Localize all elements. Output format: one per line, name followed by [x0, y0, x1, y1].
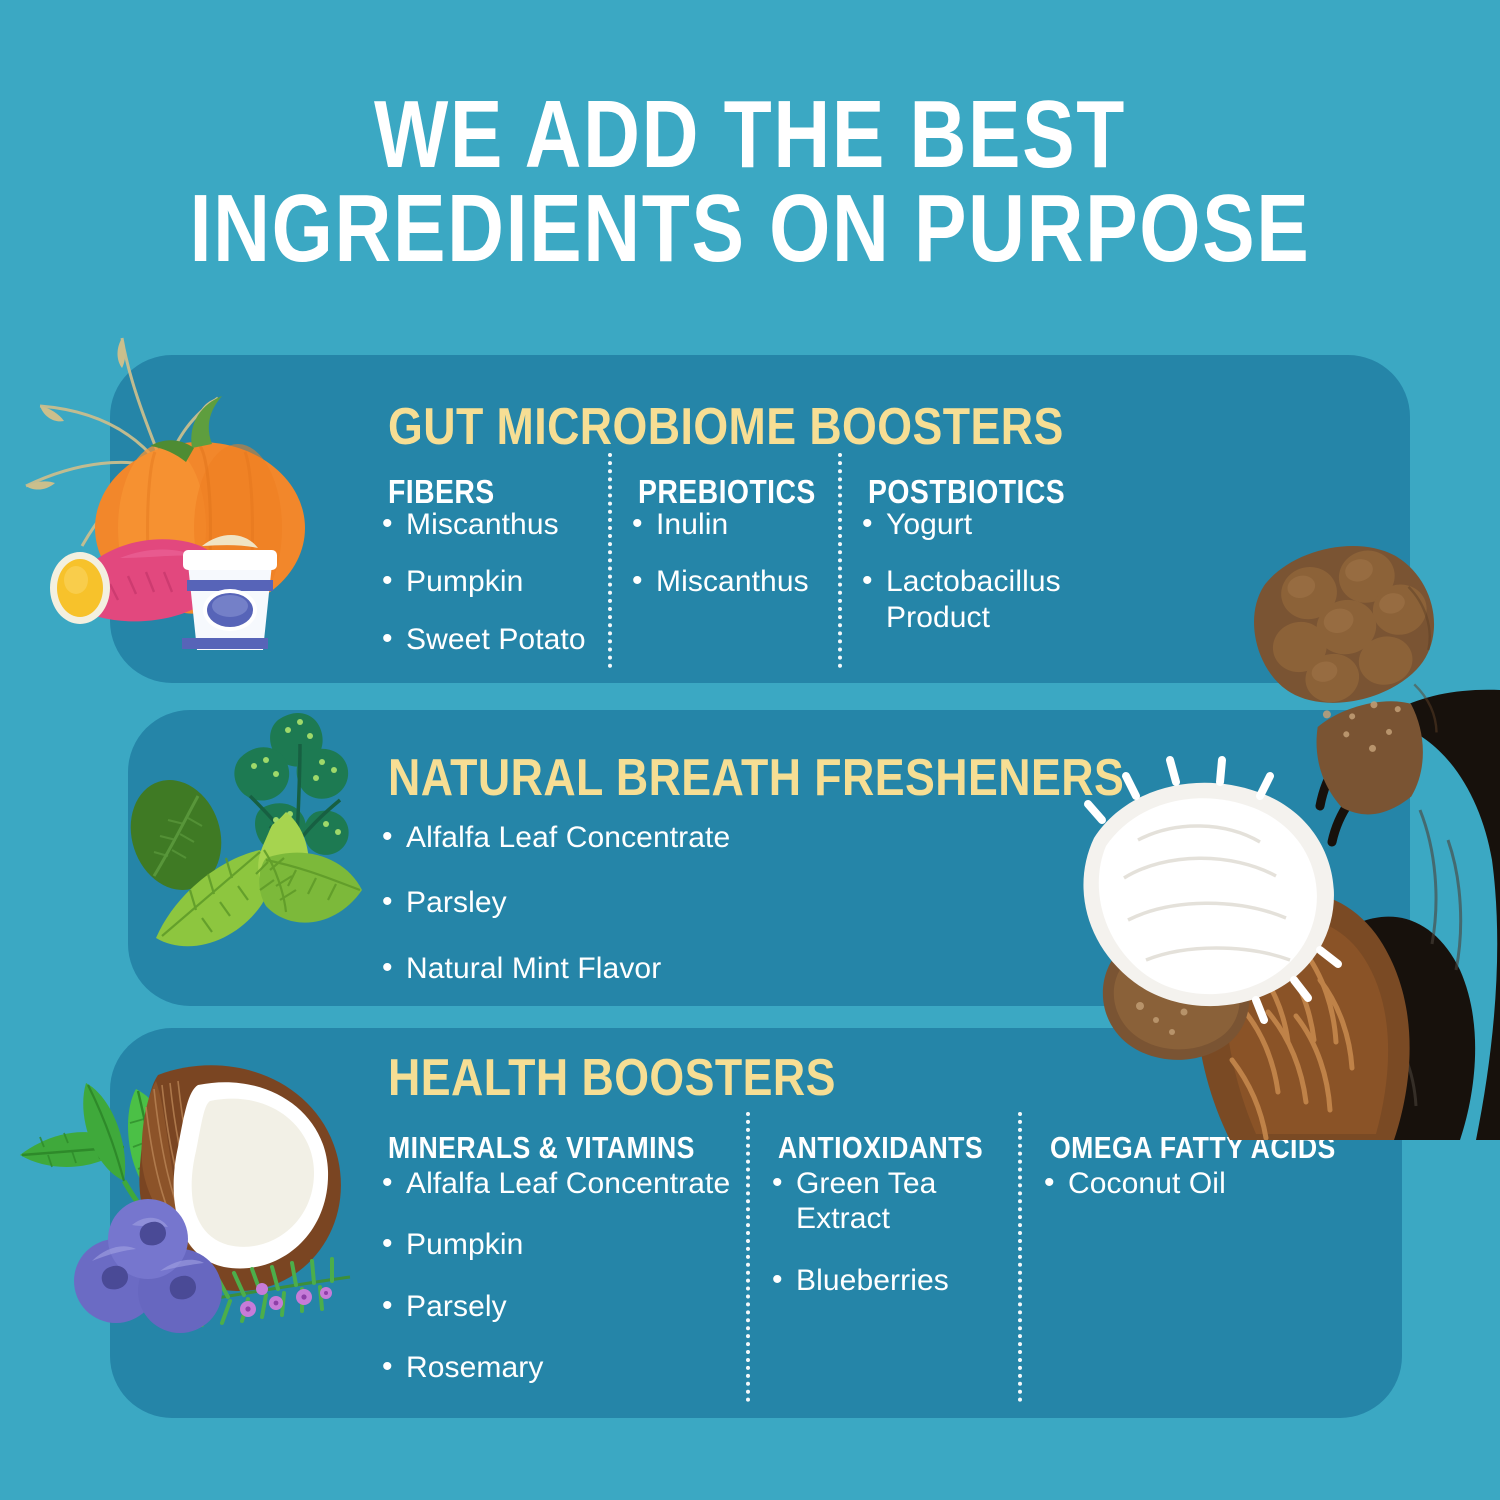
list-antioxidants: Green Tea Extract Blueberries	[772, 1166, 962, 1320]
column-divider	[1018, 1112, 1022, 1402]
headline-line-2: INGREDIENTS ON PURPOSE	[135, 182, 1365, 276]
column-heading-fibers: FIBERS	[388, 473, 495, 511]
list-minerals-vitamins: Alfalfa Leaf Concentrate Pumpkin Parsely…	[382, 1166, 732, 1408]
card-title: HEALTH BOOSTERS	[388, 1048, 836, 1108]
headline-line-1: WE ADD THE BEST	[135, 88, 1365, 182]
list-postbiotics: Yogurt Lactobacillus Product	[862, 507, 1092, 657]
card-title: NATURAL BREATH FRESHENERS	[388, 748, 1124, 808]
column-heading-prebiotics: PREBIOTICS	[638, 473, 816, 511]
dog-paw-icon	[1080, 520, 1500, 1140]
column-divider	[838, 453, 842, 668]
list-item: Coconut Oil	[1044, 1166, 1304, 1201]
column-heading-antioxidants: ANTIOXIDANTS	[778, 1130, 983, 1166]
list-item: Alfalfa Leaf Concentrate	[382, 1166, 732, 1201]
infographic-canvas: WE ADD THE BEST INGREDIENTS ON PURPOSE G…	[0, 0, 1500, 1500]
list-item: Pumpkin	[382, 564, 597, 599]
column-heading-postbiotics: POSTBIOTICS	[868, 473, 1065, 511]
list-item: Lactobacillus Product	[862, 564, 1092, 635]
list-fibers: Miscanthus Pumpkin Sweet Potato	[382, 507, 597, 679]
list-item: Pumpkin	[382, 1227, 732, 1262]
list-breath-fresheners: Alfalfa Leaf Concentrate Parsley Natural…	[382, 820, 902, 1008]
pumpkin-sweet-potato-yogurt-icon	[10, 318, 370, 678]
list-item: Blueberries	[772, 1263, 962, 1298]
list-item: Sweet Potato	[382, 622, 597, 657]
list-item: Parsely	[382, 1289, 732, 1324]
coconut-blueberries-tea-rosemary-icon	[20, 1055, 360, 1355]
list-item: Miscanthus	[382, 507, 597, 542]
list-item: Natural Mint Flavor	[382, 951, 902, 986]
list-item: Miscanthus	[632, 564, 832, 599]
column-divider	[608, 453, 612, 668]
list-item: Inulin	[632, 507, 832, 542]
page-title: WE ADD THE BEST INGREDIENTS ON PURPOSE	[135, 88, 1365, 276]
list-item: Rosemary	[382, 1350, 732, 1385]
list-item: Green Tea Extract	[772, 1166, 962, 1237]
list-item: Yogurt	[862, 507, 1092, 542]
list-item: Alfalfa Leaf Concentrate	[382, 820, 902, 855]
card-title: GUT MICROBIOME BOOSTERS	[388, 397, 1064, 457]
list-item: Parsley	[382, 885, 902, 920]
mint-parsley-alfalfa-icon	[110, 700, 410, 1000]
list-omega-fatty-acids: Coconut Oil	[1044, 1166, 1304, 1223]
list-prebiotics: Inulin Miscanthus	[632, 507, 832, 622]
column-divider	[746, 1112, 750, 1402]
column-heading-minerals-vitamins: MINERALS & VITAMINS	[388, 1130, 695, 1166]
